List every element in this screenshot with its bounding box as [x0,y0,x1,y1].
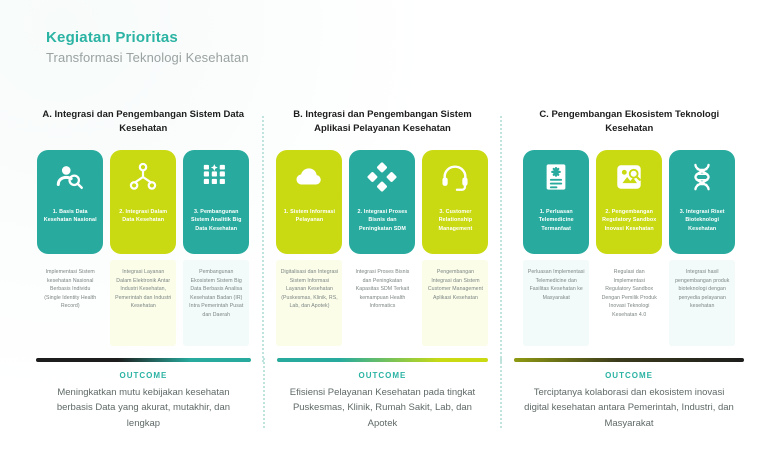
column-c-cards: 1. Perluasan Telemedicine Termanfaat 2. … [514,150,744,254]
column-c-header: C. Pengembangan Ekosistem Teknologi Kese… [514,108,744,142]
page-subtitle: Transformasi Teknologi Kesehatan [46,51,249,65]
outcome-b: OUTCOME Efisiensi Pelayanan Kesehatan pa… [269,358,496,431]
user-search-icon [55,162,85,192]
desc-a2: Integrasi Layanan Dalam Elektronik Antar… [110,260,176,346]
card-c1[interactable]: 1. Perluasan Telemedicine Termanfaat [523,150,589,254]
outcomes-container: OUTCOME Meningkatkan mutu kebijakan kese… [28,358,752,431]
desc-a1: Implementasi Sistem kesehatan Nasional B… [37,260,103,346]
desc-b3: Pengembangan Integrasi dan Sistem Custom… [422,260,488,346]
outcome-a-rule [36,358,251,362]
card-c2[interactable]: 2. Pengembangan Regulatory Sandbox Inova… [596,150,662,254]
dna-helix-icon [687,162,717,192]
desc-b1: Digitalisasi dan Integrasi Sistem Inform… [276,260,342,346]
outcome-a: OUTCOME Meningkatkan mutu kebijakan kese… [28,358,259,431]
card-a3-label: 3. Pembangunan Sistem Analitik Big Data … [183,208,249,233]
regulatory-sandbox-icon [614,162,644,192]
card-b3-label: 3. Customer Relationship Management [422,208,488,233]
cloud-icon [294,162,324,192]
outcome-c-text: Terciptanya kolaborasi dan ekosistem ino… [514,385,744,431]
outcome-c-label: OUTCOME [514,371,744,380]
card-b2[interactable]: 2. Integrasi Proses Bisnis dan Peningkat… [349,150,415,254]
outcome-c: OUTCOME Terciptanya kolaborasi dan ekosi… [506,358,752,431]
network-share-icon [128,162,158,192]
columns-container: A. Integrasi dan Pengembangan Sistem Dat… [28,108,752,362]
column-b: B. Integrasi dan Pengembangan Sistem Apl… [268,108,496,362]
outcome-b-text: Efisiensi Pelayanan Kesehatan pada tingk… [277,385,488,431]
card-c3[interactable]: 3. Integrasi Riset Bioteknologi Kesehata… [669,150,735,254]
outcome-b-rule [277,358,488,362]
outcome-divider-a-b [263,358,265,428]
card-a3[interactable]: 3. Pembangunan Sistem Analitik Big Data … [183,150,249,254]
big-data-grid-icon [201,162,231,192]
desc-c2: Regulasi dan Implementasi Regulatory San… [596,260,662,346]
outcome-a-text: Meningkatkan mutu kebijakan kesehatan be… [36,385,251,431]
desc-b2: Integrasi Proses Bisnis dan Peningkatan … [349,260,415,346]
outcome-divider-b-c [500,358,502,428]
card-a2[interactable]: 2. Integrasi Dalam Data Kesehatan [110,150,176,254]
desc-c1: Perluasan Implementasi Telemedicine dan … [523,260,589,346]
outcome-c-rule [514,358,744,362]
column-a: A. Integrasi dan Pengembangan Sistem Dat… [28,108,258,362]
desc-c3: Integrasi hasil pengembangan produk biot… [669,260,735,346]
card-a2-label: 2. Integrasi Dalam Data Kesehatan [110,208,176,225]
column-a-cards: 1. Basis Data Kesehatan Nasional 2. Inte… [36,150,250,254]
column-c-descriptions: Perluasan Implementasi Telemedicine dan … [514,260,744,346]
card-b1[interactable]: 1. Sistem Informasi Pelayanan [276,150,342,254]
card-b3[interactable]: 3. Customer Relationship Management [422,150,488,254]
card-c1-label: 1. Perluasan Telemedicine Termanfaat [523,208,589,233]
card-b2-label: 2. Integrasi Proses Bisnis dan Peningkat… [349,208,415,233]
card-a1[interactable]: 1. Basis Data Kesehatan Nasional [37,150,103,254]
desc-a3: Pembangunan Ekosistem Sistem Big Data Be… [183,260,249,346]
outcome-a-label: OUTCOME [36,371,251,380]
page-title: Kegiatan Prioritas [46,30,249,47]
infographic-page: Kegiatan Prioritas Transformasi Teknolog… [0,0,768,452]
divider-a-b [262,116,264,362]
card-b1-label: 1. Sistem Informasi Pelayanan [276,208,342,225]
headset-support-icon [440,162,470,192]
card-a1-label: 1. Basis Data Kesehatan Nasional [37,208,103,225]
column-a-descriptions: Implementasi Sistem kesehatan Nasional B… [36,260,250,346]
diamond-process-icon [367,162,397,192]
header: Kegiatan Prioritas Transformasi Teknolog… [46,30,249,65]
card-c2-label: 2. Pengembangan Regulatory Sandbox Inova… [596,208,662,233]
column-a-header: A. Integrasi dan Pengembangan Sistem Dat… [36,108,250,142]
column-b-cards: 1. Sistem Informasi Pelayanan 2. Integra… [276,150,488,254]
card-c3-label: 3. Integrasi Riset Bioteknologi Kesehata… [669,208,735,233]
column-b-header: B. Integrasi dan Pengembangan Sistem Apl… [276,108,488,142]
medical-document-icon [541,162,571,192]
column-c: C. Pengembangan Ekosistem Teknologi Kese… [506,108,752,362]
divider-b-c [500,116,502,362]
outcome-b-label: OUTCOME [277,371,488,380]
column-b-descriptions: Digitalisasi dan Integrasi Sistem Inform… [276,260,488,346]
